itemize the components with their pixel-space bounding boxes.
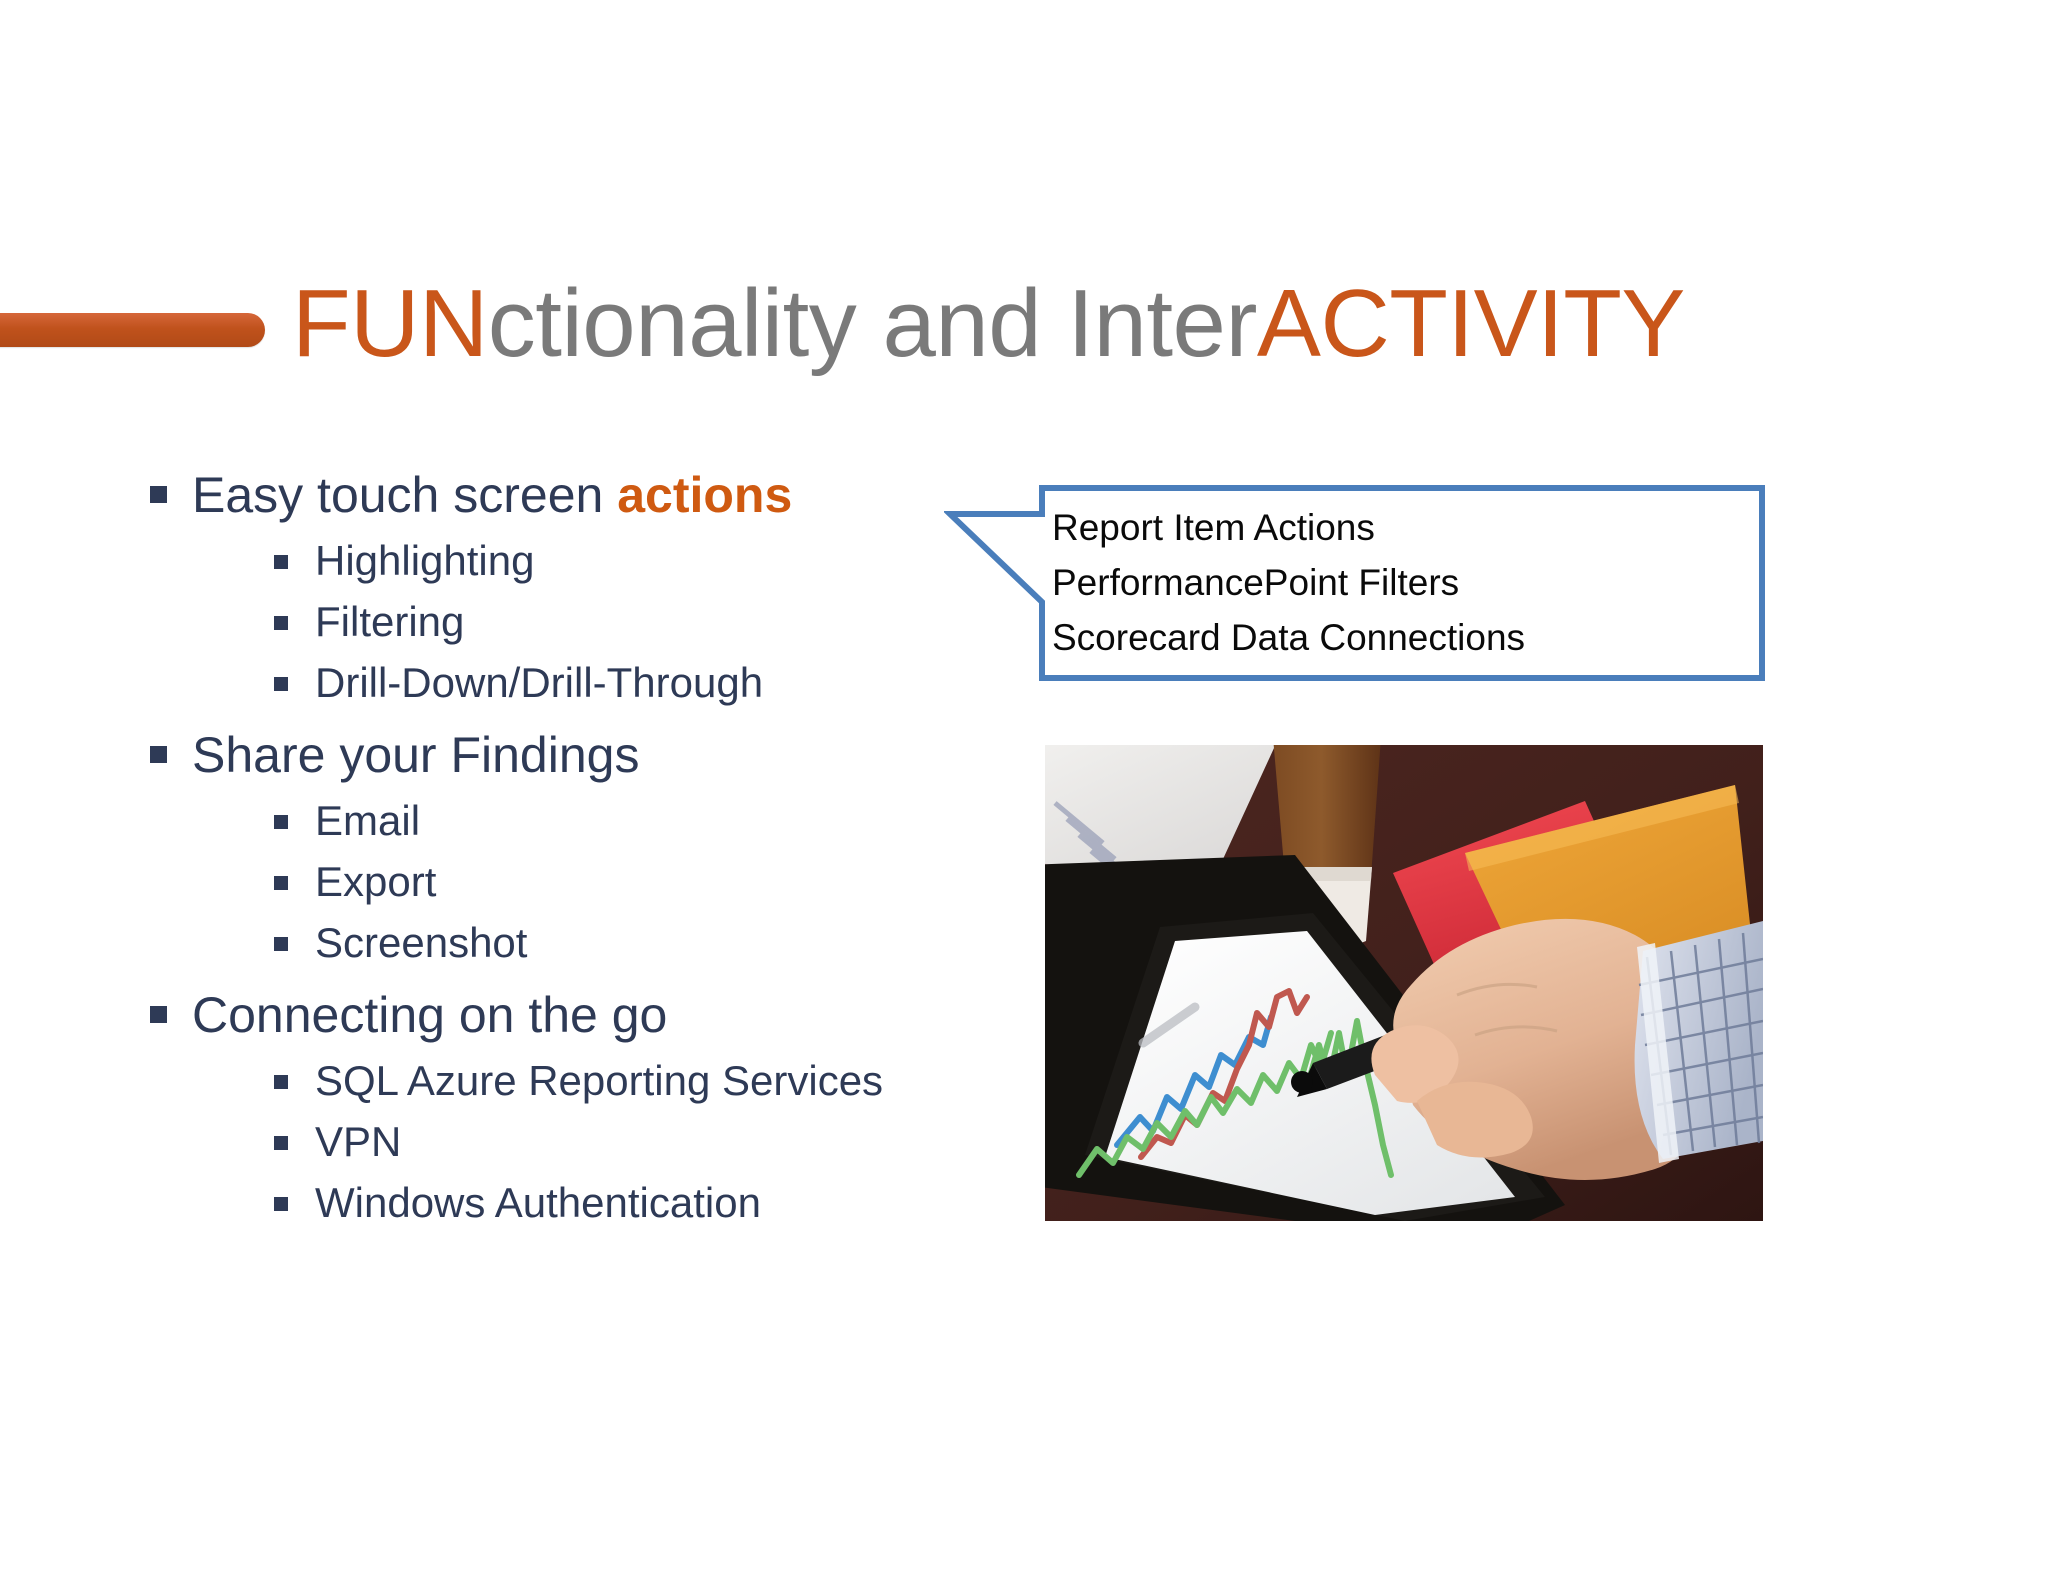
square-bullet-icon [150,486,167,503]
page-title: FUNctionality and InterACTIVITY [292,268,1685,380]
list-item: Drill-Down/Drill-Through [274,654,1030,712]
bullet-list: Easy touch screen actions Highlighting F… [150,462,1030,1242]
bullet-level1-text: Easy touch screen [192,467,617,523]
bullet-group: Share your Findings Email Export Screens… [150,722,1030,972]
bullet-level1-label: Share your Findings [192,722,639,788]
bullet-level2-label: SQL Azure Reporting Services [315,1052,883,1110]
square-bullet-icon [274,815,288,829]
bullet-level1-label: Easy touch screen actions [192,462,792,528]
bullet-level2-label: Email [315,792,420,850]
title-part-fun: FUN [292,270,488,377]
list-item: VPN [274,1113,1030,1171]
list-item: SQL Azure Reporting Services [274,1052,1030,1110]
tablet-stylus-photo [1045,745,1763,1221]
square-bullet-icon [274,876,288,890]
bullet-level2-label: Highlighting [315,532,534,590]
bullet-level1-label: Connecting on the go [192,982,667,1048]
bullet-group: Easy touch screen actions Highlighting F… [150,462,1030,712]
square-bullet-icon [274,1075,288,1089]
bullet-emphasis-actions: actions [617,467,792,523]
callout-box: Report Item Actions PerformancePoint Fil… [944,482,1768,684]
list-item: Screenshot [274,914,1030,972]
callout-text-block: Report Item Actions PerformancePoint Fil… [1052,500,1742,665]
bullet-level2-label: Export [315,853,436,911]
square-bullet-icon [274,937,288,951]
callout-line: Report Item Actions [1052,500,1742,555]
list-item: Easy touch screen actions [150,462,1030,528]
bullet-level2-label: Drill-Down/Drill-Through [315,654,763,712]
list-item: Share your Findings [150,722,1030,788]
bullet-level2-label: Windows Authentication [315,1174,761,1232]
title-part-activity: ACTIVITY [1257,270,1685,377]
list-item: Highlighting [274,532,1030,590]
square-bullet-icon [150,1006,167,1023]
bullet-group: Connecting on the go SQL Azure Reporting… [150,982,1030,1232]
callout-line: PerformancePoint Filters [1052,555,1742,610]
square-bullet-icon [274,1136,288,1150]
square-bullet-icon [274,555,288,569]
title-part-middle: ctionality and Inter [488,270,1257,377]
list-item: Connecting on the go [150,982,1030,1048]
bullet-level2-label: Filtering [315,593,464,651]
bullet-level2-label: Screenshot [315,914,527,972]
list-item: Filtering [274,593,1030,651]
callout-line: Scorecard Data Connections [1052,610,1742,665]
title-accent-bar [0,313,265,347]
bullet-level2-label: VPN [315,1113,401,1171]
list-item: Email [274,792,1030,850]
square-bullet-icon [274,1197,288,1211]
square-bullet-icon [274,616,288,630]
photo-illustration [1045,745,1763,1221]
square-bullet-icon [274,677,288,691]
list-item: Export [274,853,1030,911]
list-item: Windows Authentication [274,1174,1030,1232]
square-bullet-icon [150,746,167,763]
